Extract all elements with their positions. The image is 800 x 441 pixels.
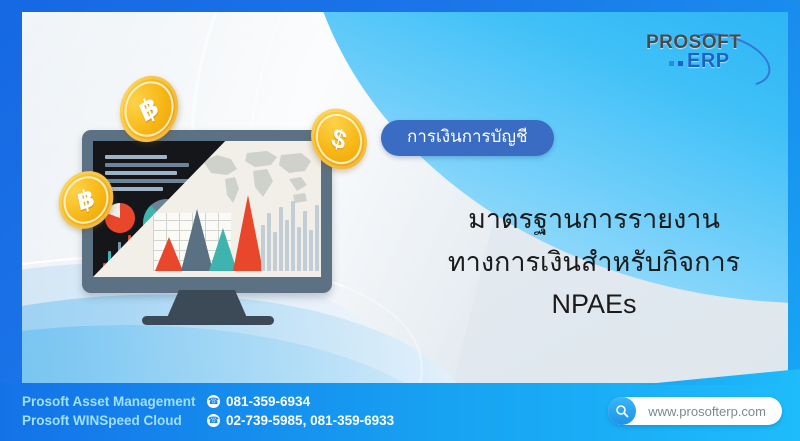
contact-product-name: Prosoft WINSpeed Cloud — [22, 411, 207, 430]
monitor-screen — [93, 141, 321, 277]
website-url-bar[interactable]: www.prosofterp.com — [608, 397, 782, 425]
contact-phone[interactable]: 081-359-6934 — [226, 392, 310, 411]
column-bar — [267, 213, 271, 271]
phone-icon: ☎ — [207, 414, 220, 427]
column-bar — [279, 207, 283, 271]
column-bar — [291, 201, 295, 271]
website-url-text: www.prosofterp.com — [636, 404, 782, 419]
logo-secondary-text: ERP — [687, 50, 730, 73]
text-line — [105, 163, 189, 167]
column-bar — [315, 205, 319, 271]
footer-contacts: Prosoft Asset Management ☎ 081-359-6934 … — [22, 392, 394, 430]
text-line — [105, 179, 195, 183]
contact-row: Prosoft Asset Management ☎ 081-359-6934 — [22, 392, 394, 411]
banner-stage: ฿ $ ฿ การเงินการบัญชี มาตรฐานการรายงาน ท… — [22, 12, 788, 387]
column-bar — [297, 227, 301, 271]
search-icon[interactable] — [608, 397, 636, 425]
prosoft-erp-logo: PROSOFT ERP — [646, 30, 766, 78]
text-line — [105, 187, 163, 191]
category-badge: การเงินการบัญชี — [381, 120, 554, 156]
column-bar — [303, 211, 307, 271]
logo-dot-icon — [669, 61, 674, 66]
text-line — [105, 171, 177, 175]
column-bar — [309, 230, 313, 271]
contact-product-name: Prosoft Asset Management — [22, 392, 207, 411]
page-title-line-1: มาตรฐานการรายงาน — [394, 198, 788, 241]
footer-bar: Prosoft Asset Management ☎ 081-359-6934 … — [0, 383, 800, 441]
page-title: มาตรฐานการรายงาน ทางการเงินสำหรับกิจการ … — [394, 198, 788, 326]
page-title-line-2: ทางการเงินสำหรับกิจการ — [394, 241, 788, 284]
page-title-line-3: NPAEs — [394, 283, 788, 326]
logo-dot-icon — [678, 61, 683, 66]
column-bar — [261, 225, 265, 271]
promo-banner: ฿ $ ฿ การเงินการบัญชี มาตรฐานการรายงาน ท… — [0, 0, 800, 441]
area-triangle — [233, 195, 263, 271]
area-triangle — [155, 237, 183, 271]
contact-phone[interactable]: 02-739-5985, 081-359-6933 — [226, 411, 394, 430]
search-glyph — [615, 404, 629, 418]
contact-row: Prosoft WINSpeed Cloud ☎ 02-739-5985, 08… — [22, 411, 394, 430]
desktop-monitor — [82, 130, 342, 320]
monitor-stand-base — [142, 316, 274, 325]
column-bar — [273, 232, 277, 271]
phone-icon: ☎ — [207, 395, 220, 408]
monitor-body — [82, 130, 332, 293]
column-bar — [285, 220, 289, 271]
text-line — [105, 155, 167, 159]
